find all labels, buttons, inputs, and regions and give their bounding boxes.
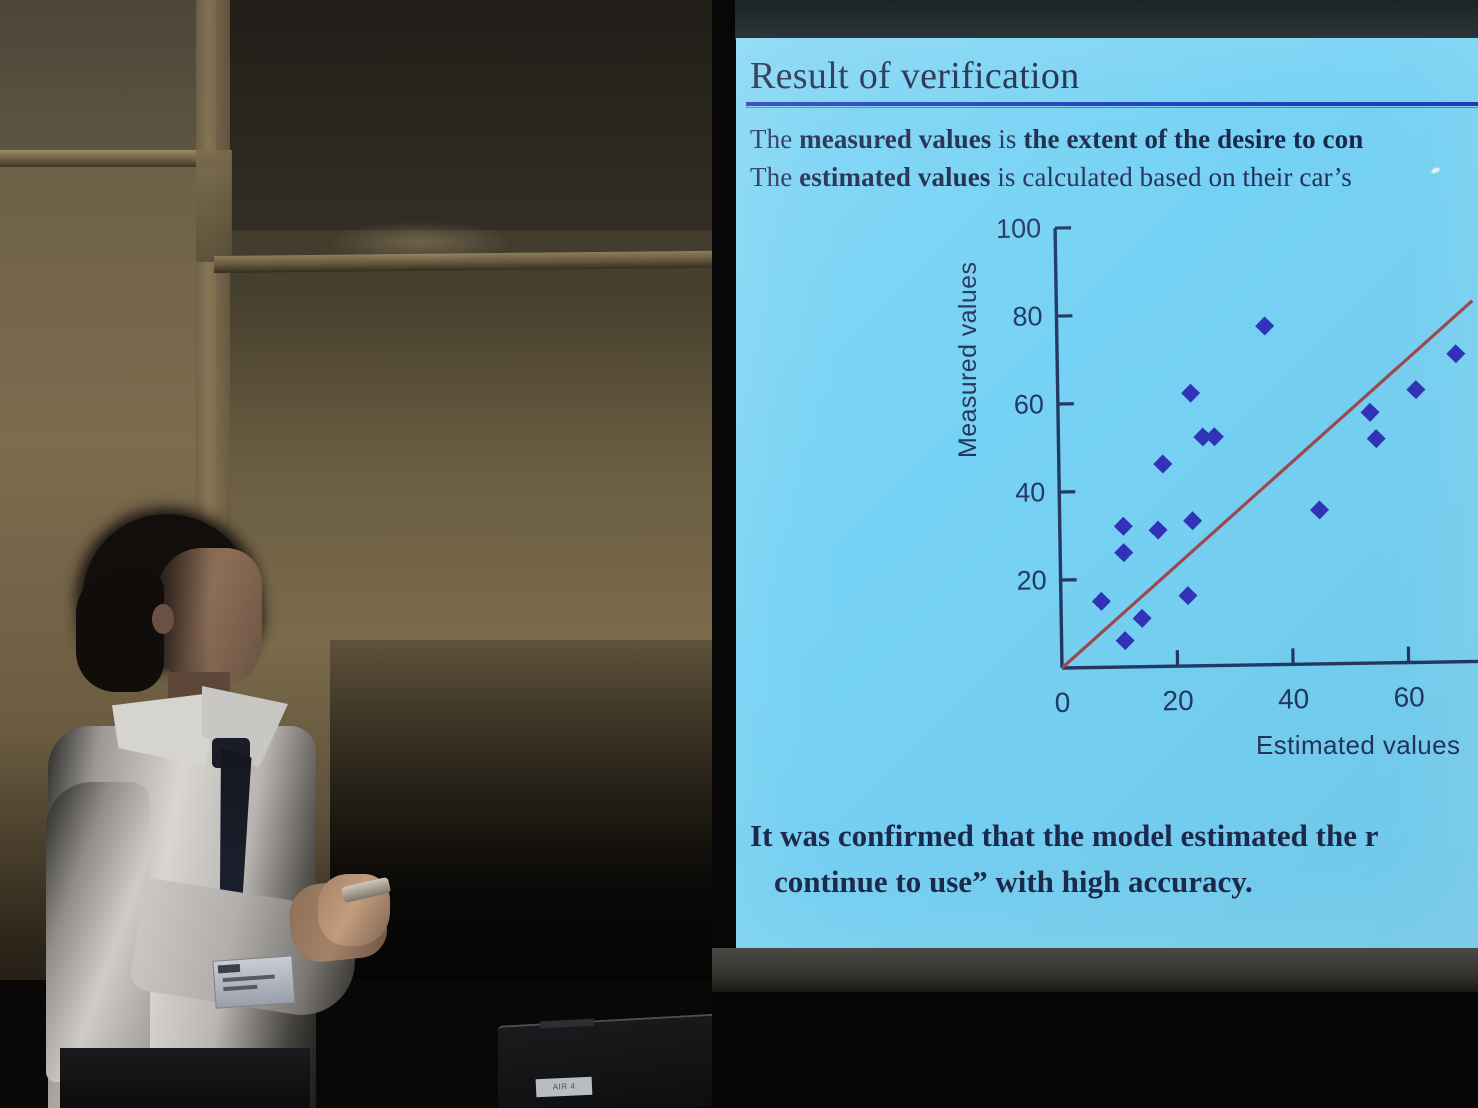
scatter-chart: Measured values Estimated values 2040608… (966, 208, 1478, 768)
slide-body-line-1: The measured values is the extent of the… (750, 124, 1363, 155)
chart-x-axis-label: Estimated values (1256, 730, 1460, 761)
body1-prefix: The (750, 124, 799, 154)
svg-text:100: 100 (996, 213, 1042, 244)
left-wall-molding (0, 150, 218, 167)
slide-title: Result of verification (750, 54, 1450, 98)
laptop-sticker-label: AIR 4 (536, 1077, 593, 1097)
slide-conclusion-line-1: It was confirmed that the model estimate… (750, 818, 1379, 854)
screen-left-edge (712, 0, 736, 1000)
slide-body-line-2: The estimated values is calculated based… (750, 162, 1352, 193)
conference-name-badge (212, 955, 295, 1008)
screen-bottom-surround (712, 948, 1478, 992)
presenter-trousers (60, 1048, 310, 1108)
title-underline-rule-thin (746, 107, 1478, 108)
svg-text:80: 80 (1012, 301, 1043, 331)
below-screen-darkness (712, 992, 1478, 1108)
wall-light-glow (330, 222, 510, 262)
body1-mid: is (991, 124, 1023, 154)
title-underline-rule (746, 102, 1478, 106)
slide-conclusion-line-2: continue to use” with high accuracy. (774, 864, 1253, 900)
dust-speck (1430, 166, 1440, 174)
laptop-sticker-text: AIR 4 (536, 1077, 593, 1097)
svg-text:20: 20 (1016, 565, 1047, 595)
body2-mid: is calculated based on their car’s (990, 162, 1351, 192)
body1-bold-1: measured values (799, 124, 991, 154)
presenter-hair-side (76, 570, 164, 692)
corner-molding (196, 150, 232, 262)
presenter (40, 496, 390, 1108)
svg-text:60: 60 (1393, 681, 1425, 712)
shirt-sleeve (46, 782, 150, 1082)
screen-top-bezel (735, 0, 1478, 40)
back-wall-upper (216, 0, 740, 230)
presenter-ear (152, 604, 174, 634)
chart-plot-area: 204060801000204060 (966, 208, 1478, 728)
photo-scene: AIR 4 Result of verification The measure… (0, 0, 1478, 1108)
svg-text:0: 0 (1055, 687, 1071, 718)
svg-text:60: 60 (1014, 389, 1045, 419)
svg-text:40: 40 (1015, 477, 1046, 507)
svg-text:20: 20 (1162, 685, 1194, 716)
body2-bold-1: estimated values (799, 162, 990, 192)
badge-logo (218, 964, 241, 974)
chart-y-axis-label: Measured values (954, 262, 983, 458)
body2-prefix: The (750, 162, 799, 192)
body1-bold-2: the extent of the desire to con (1023, 124, 1363, 154)
svg-text:40: 40 (1278, 683, 1310, 714)
badge-text-line-1 (223, 975, 275, 983)
presentation-slide: Result of verification The measured valu… (736, 38, 1478, 950)
left-wall-upper (0, 0, 216, 150)
badge-text-line-2 (223, 985, 257, 991)
